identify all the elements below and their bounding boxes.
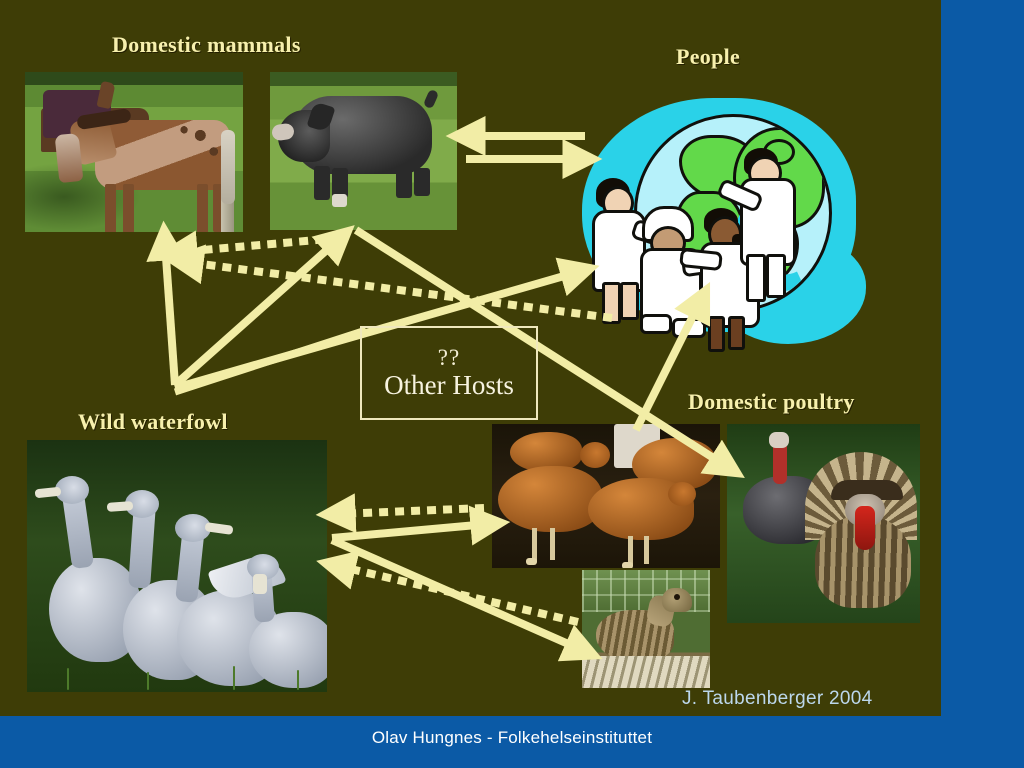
person-foot <box>640 314 672 334</box>
horse-tail <box>221 130 235 204</box>
heading-people: People <box>676 44 740 70</box>
person-leg <box>620 282 639 320</box>
duckling-bill <box>107 501 134 512</box>
pig-leg <box>314 166 330 200</box>
horse-appaloosa-head <box>55 133 84 183</box>
right-blue-border <box>941 0 1024 768</box>
horse-blanketed-head <box>96 81 115 109</box>
horses-photo <box>25 72 243 232</box>
quail-eye <box>674 594 680 600</box>
turkeys-photo <box>727 424 920 623</box>
quail-photo <box>582 570 710 688</box>
hen-head <box>668 482 696 506</box>
quail-head <box>662 588 692 612</box>
hen-leg <box>532 528 537 562</box>
heading-domestic-poultry: Domestic poultry <box>688 389 855 415</box>
hen-leg <box>550 528 555 560</box>
grass-blade <box>67 668 69 690</box>
cage-floor-mesh <box>582 656 710 688</box>
person-leg <box>728 316 745 350</box>
hen-foot <box>526 558 537 565</box>
horse-leg <box>197 184 208 232</box>
slide-canvas: ?? Other Hosts Domestic mammals People D… <box>0 0 1024 768</box>
grass-blade <box>147 672 149 690</box>
hen-body <box>498 466 602 532</box>
horse-leg <box>105 184 116 232</box>
hen-head <box>580 442 610 468</box>
person-leg <box>766 254 786 298</box>
people-clipart <box>576 86 864 354</box>
citation-text: J. Taubenberger 2004 <box>682 688 873 710</box>
turkey-dark-head <box>769 432 789 448</box>
grass-blade <box>233 666 235 690</box>
pig-photo <box>270 72 457 230</box>
turkey-wattle <box>855 506 875 550</box>
person-leg <box>746 254 766 302</box>
other-hosts-box: ?? Other Hosts <box>360 326 538 420</box>
chickens-photo <box>492 424 720 568</box>
pig-hoof <box>332 194 347 207</box>
other-hosts-question-marks: ?? <box>438 346 460 369</box>
ducks-photo <box>27 440 327 692</box>
other-hosts-label: Other Hosts <box>384 371 514 399</box>
duckling-bill <box>253 574 267 594</box>
heading-wild-waterfowl: Wild waterfowl <box>78 409 228 435</box>
hen-leg <box>644 536 649 564</box>
turkey-dark-neck <box>773 442 787 484</box>
person-leg <box>602 282 621 324</box>
footer-attribution: Olav Hungnes - Folkehelseinstituttet <box>0 728 1024 748</box>
horse-leg <box>123 184 134 232</box>
grass-blade <box>297 670 299 690</box>
heading-domestic-mammals: Domestic mammals <box>112 32 301 58</box>
pig-leg <box>414 168 430 196</box>
pig-tail <box>423 89 439 110</box>
pig-leg <box>396 166 412 198</box>
hen-foot <box>622 562 633 568</box>
person-leg <box>708 316 725 352</box>
